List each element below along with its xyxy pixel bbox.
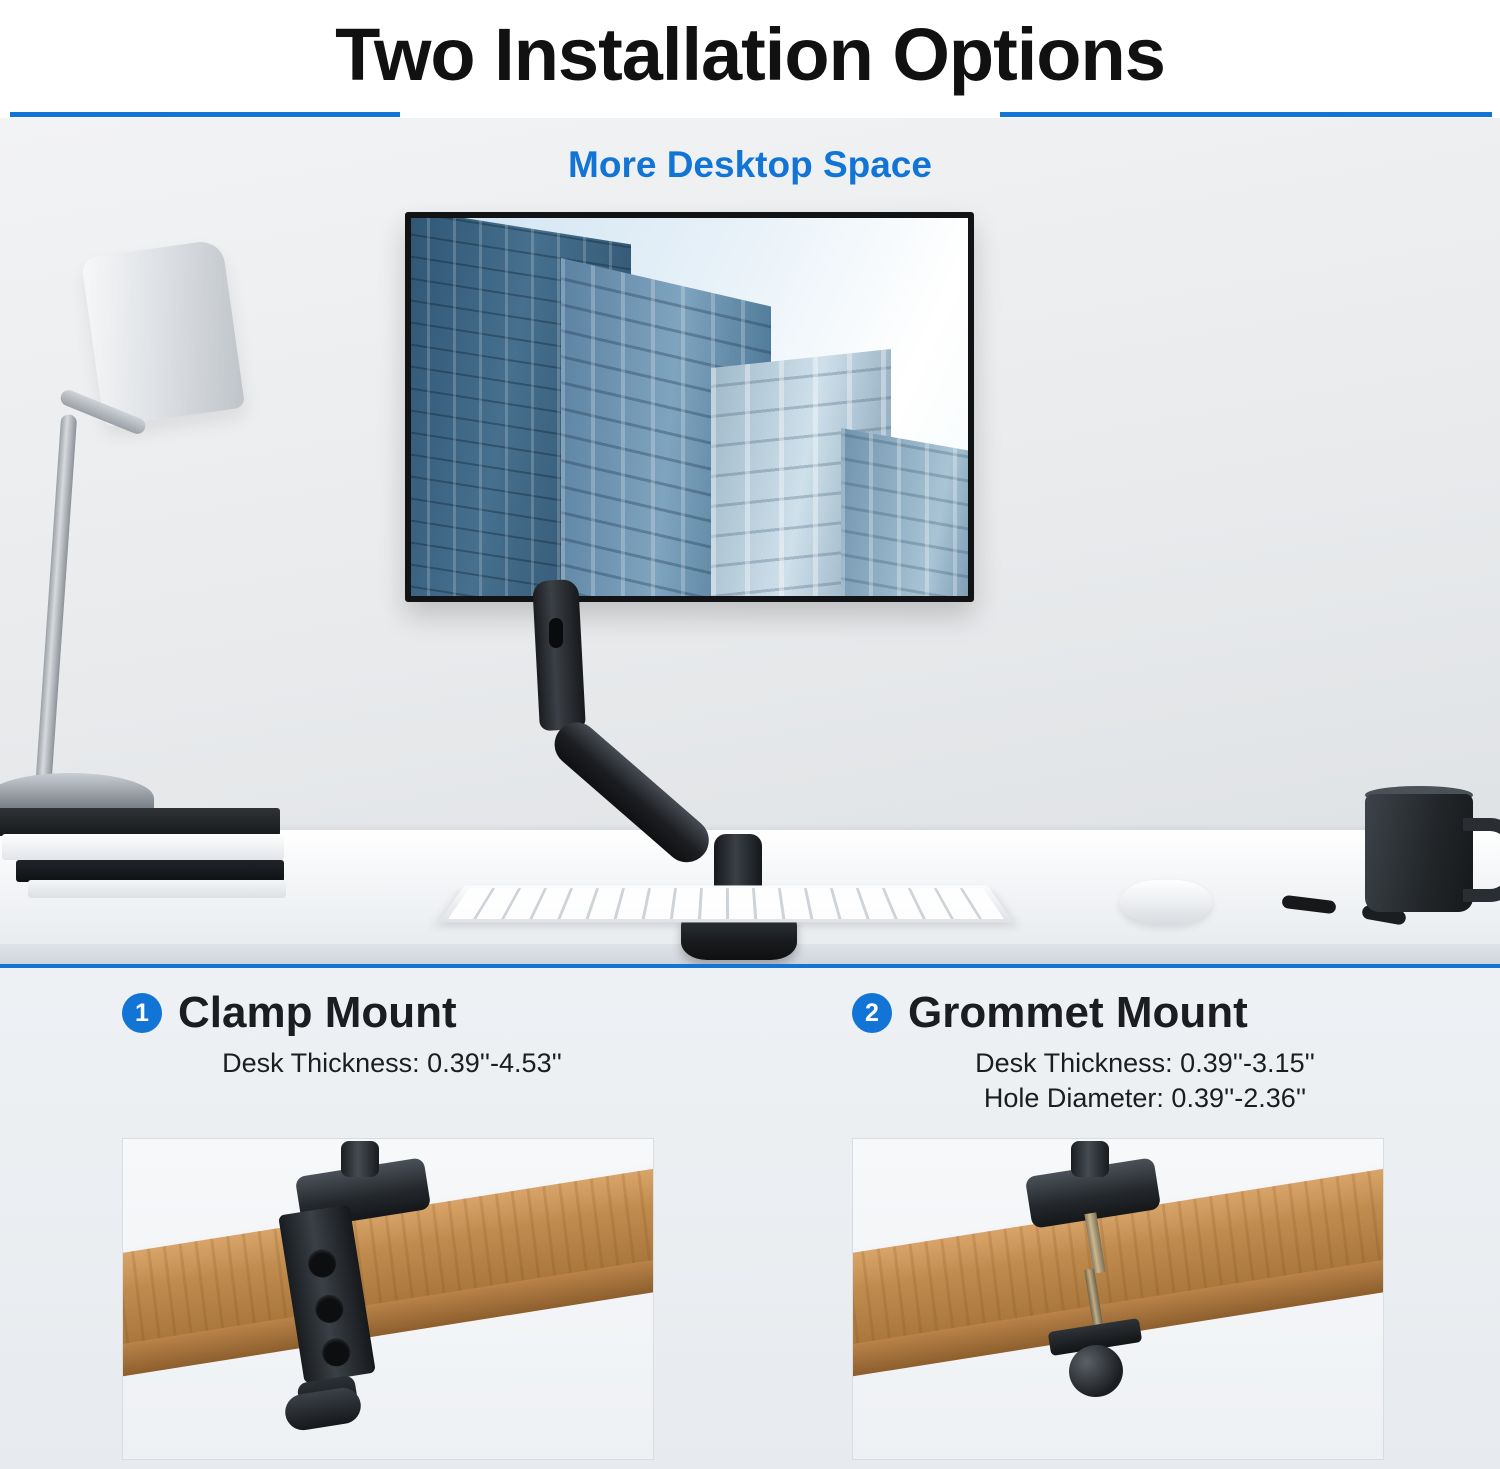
mount-post <box>1071 1141 1109 1177</box>
option-clamp-mount: 1 Clamp Mount Desk Thickness: 0.39''-4.5… <box>12 968 732 1469</box>
coffee-mug <box>1365 794 1473 912</box>
option-spec-line: Desk Thickness: 0.39''-3.15'' <box>760 1046 1480 1081</box>
header: Two Installation Options <box>0 0 1500 110</box>
clamp-hole <box>306 1247 338 1279</box>
monitor-arm-cable-hole <box>549 618 563 648</box>
mug-handle <box>1463 818 1500 902</box>
clamp-knob <box>283 1385 364 1432</box>
book-stack-item <box>2 834 284 860</box>
keyboard <box>438 885 1013 922</box>
clamp-hole <box>320 1336 352 1368</box>
page-title: Two Installation Options <box>335 18 1165 92</box>
mount-post <box>341 1141 379 1177</box>
installation-options-panel: 1 Clamp Mount Desk Thickness: 0.39''-4.5… <box>0 968 1500 1469</box>
book-stack-item <box>16 860 284 882</box>
option-title: Grommet Mount <box>908 988 1248 1038</box>
mouse <box>1120 880 1212 924</box>
book-stack-item <box>0 808 280 836</box>
screen-building <box>841 428 974 602</box>
option-grommet-mount: 2 Grommet Mount Desk Thickness: 0.39''-3… <box>760 968 1480 1469</box>
option-spec-line: Desk Thickness: 0.39''-4.53'' <box>12 1046 732 1081</box>
header-rule-left <box>10 112 400 117</box>
header-rule-right <box>1000 112 1492 117</box>
lamp-shade <box>81 239 245 427</box>
option-title: Clamp Mount <box>178 988 457 1038</box>
grommet-mount-photo <box>852 1138 1384 1460</box>
scene-label: More Desktop Space <box>0 144 1500 186</box>
option-heading: 2 Grommet Mount <box>760 968 1480 1038</box>
clamp-hole <box>313 1293 345 1325</box>
monitor-arm-upper <box>532 579 586 731</box>
book-stack-item <box>28 880 286 898</box>
desk-scene: More Desktop Space <box>0 118 1500 966</box>
option-number-badge: 1 <box>122 993 162 1033</box>
monitor-screen <box>405 212 974 602</box>
clamp-mount-photo <box>122 1138 654 1460</box>
option-heading: 1 Clamp Mount <box>12 968 732 1038</box>
option-spec-line: Hole Diameter: 0.39''-2.36'' <box>760 1081 1480 1116</box>
product-infographic: Two Installation Options More Desktop Sp… <box>0 0 1500 1469</box>
option-number-badge: 2 <box>852 993 892 1033</box>
